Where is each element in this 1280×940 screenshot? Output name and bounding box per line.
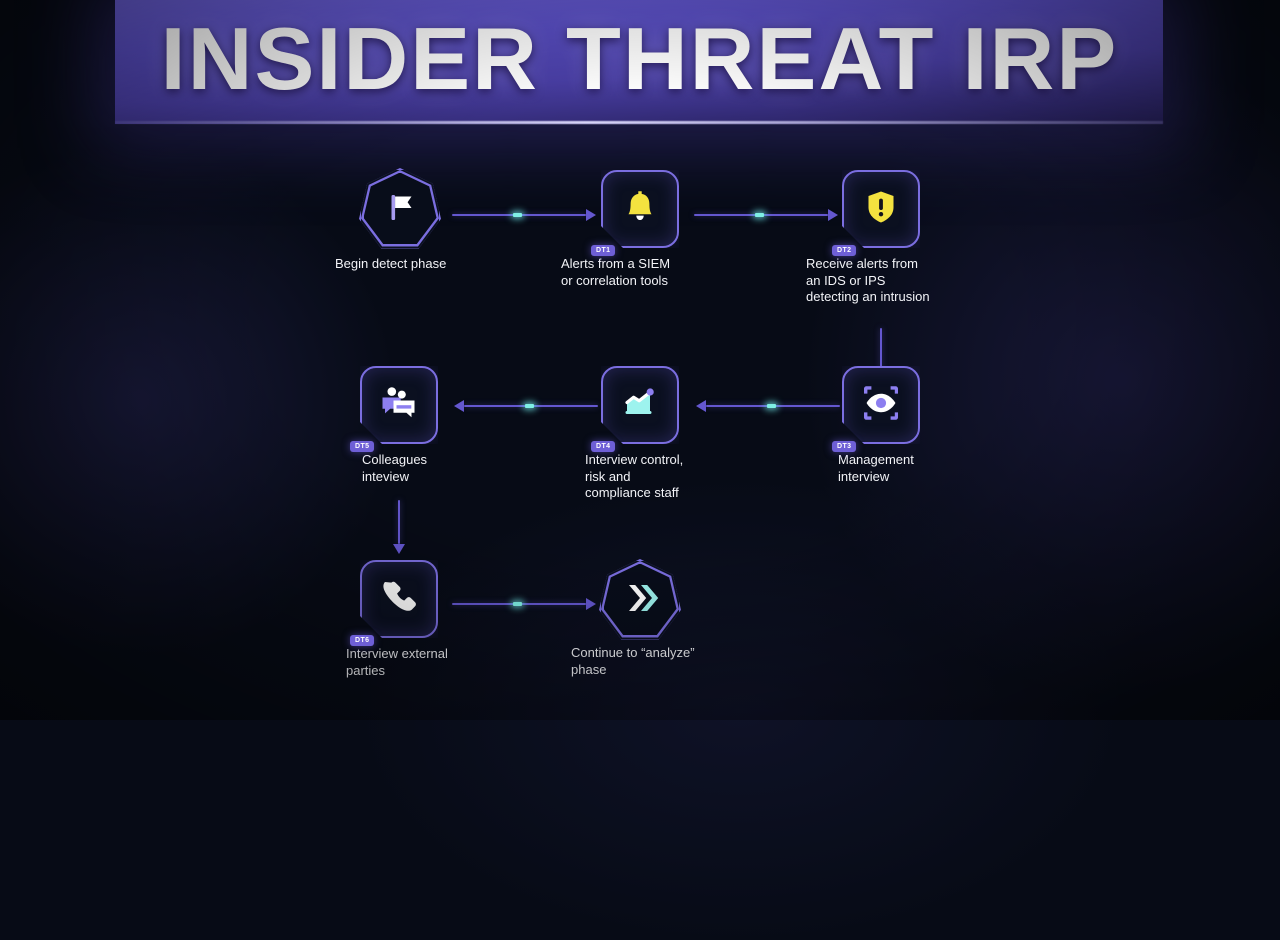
- node-shape-heptagon: [599, 559, 681, 641]
- background-glow-bottom: [360, 480, 1120, 940]
- shield-alert-icon: [860, 186, 902, 233]
- chat-people-icon: [376, 380, 422, 431]
- node-end[interactable]: Continue to “analyze” phase: [599, 559, 677, 637]
- node-dt2[interactable]: DT2 Receive alerts from an IDS or IPS de…: [842, 170, 920, 248]
- node-dt5[interactable]: DT5 Colleagues inteview: [360, 366, 438, 444]
- background-glow-left: [0, 140, 400, 660]
- node-dt3-caption: Management interview: [838, 452, 1008, 485]
- double-chevron-icon: [618, 576, 662, 625]
- node-shape-box: [360, 366, 438, 444]
- node-shape-box: [842, 170, 920, 248]
- phone-icon: [378, 576, 420, 623]
- node-start[interactable]: Begin detect phase: [359, 168, 437, 246]
- node-dt5-caption: Colleagues inteview: [362, 452, 532, 485]
- node-dt1-badge: DT1: [591, 245, 615, 256]
- node-dt6-badge: DT6: [350, 635, 374, 646]
- node-shape-box: [360, 560, 438, 638]
- node-dt4-badge: DT4: [591, 441, 615, 452]
- node-dt3-badge: DT3: [832, 441, 856, 452]
- area-chart-icon: [618, 381, 662, 430]
- diagram-canvas: INSIDER THREAT IRP Begin detect phase: [0, 0, 1280, 720]
- connector-start-dt1: [452, 209, 598, 221]
- flag-icon: [380, 187, 420, 232]
- node-dt3[interactable]: DT3 Management interview: [842, 366, 920, 444]
- node-shape-box: [601, 366, 679, 444]
- connector-dt5-dt6: [393, 500, 405, 558]
- node-dt1-caption: Alerts from a SIEM or correlation tools: [561, 256, 731, 289]
- connector-dt6-end: [452, 598, 598, 610]
- node-dt6[interactable]: DT6 Interview external parties: [360, 560, 438, 638]
- eye-scan-icon: [858, 380, 904, 431]
- node-dt5-badge: DT5: [350, 441, 374, 452]
- node-dt4[interactable]: DT4 Interview control, risk and complian…: [601, 366, 679, 444]
- node-dt2-badge: DT2: [832, 245, 856, 256]
- title-banner: INSIDER THREAT IRP: [115, 0, 1163, 124]
- node-start-caption: Begin detect phase: [335, 256, 525, 273]
- bell-icon: [619, 186, 661, 233]
- connector-dt1-dt2: [694, 209, 840, 221]
- node-dt4-caption: Interview control, risk and compliance s…: [585, 452, 745, 502]
- node-dt6-caption: Interview external parties: [346, 646, 506, 679]
- page-title: INSIDER THREAT IRP: [160, 15, 1118, 109]
- node-dt1[interactable]: DT1 Alerts from a SIEM or correlation to…: [601, 170, 679, 248]
- connector-dt3-dt4: [694, 400, 840, 412]
- connector-dt4-dt5: [452, 400, 598, 412]
- node-shape-heptagon: [359, 168, 441, 250]
- node-shape-box: [601, 170, 679, 248]
- node-end-caption: Continue to “analyze” phase: [571, 645, 761, 678]
- node-dt2-caption: Receive alerts from an IDS or IPS detect…: [806, 256, 982, 306]
- node-shape-box: [842, 366, 920, 444]
